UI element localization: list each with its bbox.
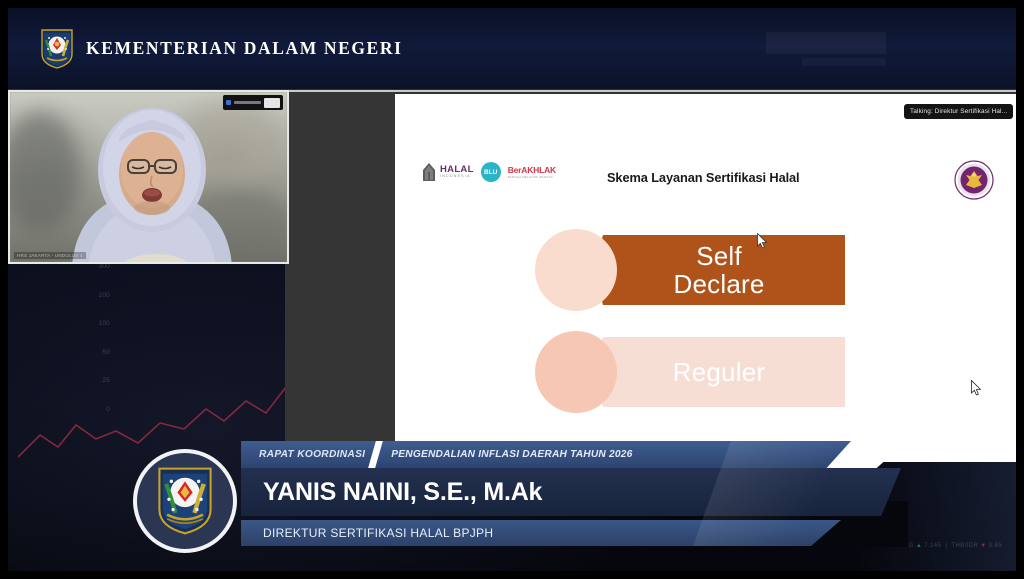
backdrop-ticker: IHSG ▲ 7.145 | THB/IDR ▼ 0.45 <box>897 543 1002 549</box>
scheme-label-self-declare: Self Declare <box>674 242 765 298</box>
webcam-speaker-figure <box>10 92 289 264</box>
berakhlak-logo-line2: BANGGA MELAYANI BANGSA <box>508 176 556 179</box>
lower-third-segment-1: RAPAT KOORDINASI <box>259 449 365 460</box>
lower-third-subtitle-bar: RAPAT KOORDINASI PENGENDALIAN INFLASI DA… <box>241 441 851 468</box>
blu-logo: BLU <box>481 162 501 182</box>
lower-third-role-bar: DIREKTUR SERTIFIKASI HALAL BPJPH <box>241 520 841 546</box>
scheme-circle-self-declare <box>535 229 617 311</box>
header-ghost-block <box>766 32 886 54</box>
axis-tick: 50 <box>102 349 110 356</box>
halal-mark-icon <box>421 162 437 182</box>
speaker-role: DIREKTUR SERTIFIKASI HALAL BPJPH <box>263 526 493 540</box>
broadcast-frame: 300 200 100 50 25 0 IHSG ▲ 7.145 | THB/I… <box>8 8 1016 571</box>
scheme-label-line1: Self <box>696 241 742 271</box>
lower-third-slash-divider <box>365 441 391 468</box>
page-title: KEMENTERIAN DALAM NEGERI <box>86 38 402 59</box>
kemendagri-emblem-icon <box>40 28 74 70</box>
blu-logo-text: BLU <box>484 169 497 176</box>
broadcast-screenshot: 300 200 100 50 25 0 IHSG ▲ 7.145 | THB/I… <box>0 0 1024 579</box>
scheme-row-reguler[interactable]: Reguler <box>523 331 943 413</box>
webcam-share-overlay <box>223 95 283 110</box>
berakhlak-logo-line1: BerAKHLAK <box>508 166 556 175</box>
scheme-label-line1: Reguler <box>673 357 765 387</box>
speaker-tooltip: Talking: Direktur Sertifikasi Hal... <box>904 104 1013 119</box>
ticker-right-label: THB/IDR <box>951 543 978 549</box>
halal-logo-line2: INDONESIA <box>440 175 474 179</box>
lower-third-segment-2: PENGENDALIAN INFLASI DAERAH TAHUN 2026 <box>391 449 632 460</box>
halal-indonesia-logo: HALAL INDONESIA <box>421 162 474 182</box>
scheme-label-reguler: Reguler <box>673 358 765 386</box>
overlay-thumbnail <box>264 98 280 108</box>
mouse-cursor-slide-icon <box>757 233 768 249</box>
panel-left-gutter <box>285 92 395 460</box>
scheme-circle-reguler <box>535 331 617 413</box>
bpjph-garuda-logo-icon <box>954 160 994 200</box>
scheme-bar-self-declare[interactable]: Self Declare <box>593 235 845 305</box>
halal-logo-line1: HALAL <box>440 165 474 175</box>
overlay-line <box>234 101 261 104</box>
axis-tick: 300 <box>99 263 110 270</box>
lower-third-emblem-badge <box>133 449 237 553</box>
scheme-label-line2: Declare <box>674 269 765 299</box>
lower-third-name-bar: YANIS NAINI, S.E., M.Ak <box>241 468 901 516</box>
header-bar: KEMENTERIAN DALAM NEGERI <box>8 8 1016 90</box>
axis-tick: 100 <box>99 320 110 327</box>
webcam-tile[interactable]: HRS JAKARTA - UNDULUS 4 <box>8 90 289 264</box>
slide-logo-row: HALAL INDONESIA BLU BerAKHLAK BANGGA MEL… <box>421 162 556 182</box>
mouse-cursor-panel-icon <box>971 380 982 396</box>
lower-third-banner: RAPAT KOORDINASI PENGENDALIAN INFLASI DA… <box>133 441 898 561</box>
scheme-bar-reguler[interactable]: Reguler <box>593 337 845 407</box>
kemendagri-emblem-badge-icon <box>156 465 214 537</box>
speaker-name: YANIS NAINI, S.E., M.Ak <box>263 478 542 507</box>
presentation-app-panel[interactable]: HALAL INDONESIA BLU BerAKHLAK BANGGA MEL… <box>285 90 1016 460</box>
axis-tick: 200 <box>99 292 110 299</box>
overlay-app-icon <box>226 100 231 105</box>
webcam-corner-tag: HRS JAKARTA - UNDULUS 4 <box>14 252 86 259</box>
presentation-slide[interactable]: HALAL INDONESIA BLU BerAKHLAK BANGGA MEL… <box>395 94 1016 462</box>
header-ghost-block-2 <box>802 58 886 66</box>
ticker-right-value: 0.45 <box>989 543 1002 549</box>
ticker-left-value: 7.145 <box>924 543 941 549</box>
slide-title: Skema Layanan Sertifikasi Halal <box>607 170 800 185</box>
scheme-diagram: Self Declare Reguler <box>523 229 943 433</box>
scheme-row-self-declare[interactable]: Self Declare <box>523 229 943 311</box>
berakhlak-logo: BerAKHLAK BANGGA MELAYANI BANGSA <box>508 166 556 179</box>
